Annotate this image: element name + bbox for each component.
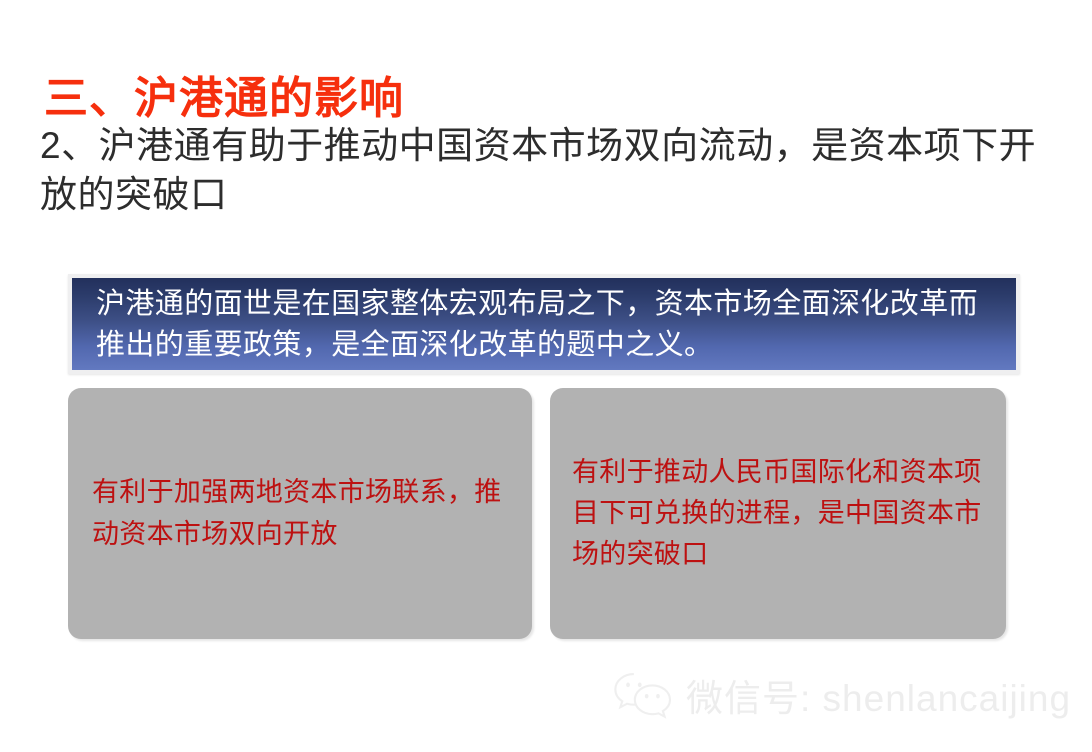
highlight-banner: 沪港通的面世是在国家整体宏观布局之下，资本市场全面深化改革而推出的重要政策，是全… <box>68 274 1020 374</box>
benefit-box-left-text: 有利于加强两地资本市场联系，推动资本市场双向开放 <box>92 472 512 554</box>
wechat-icon <box>612 671 674 719</box>
watermark: 微信号: shenlancaijing <box>612 668 1071 722</box>
highlight-banner-fill: 沪港通的面世是在国家整体宏观布局之下，资本市场全面深化改革而推出的重要政策，是全… <box>72 278 1016 370</box>
watermark-text: 微信号: shenlancaijing <box>686 668 1071 722</box>
benefit-box-left: 有利于加强两地资本市场联系，推动资本市场双向开放 <box>68 388 532 639</box>
highlight-banner-text: 沪港通的面世是在国家整体宏观布局之下，资本市场全面深化改革而推出的重要政策，是全… <box>96 283 994 365</box>
benefit-box-right-text: 有利于推动人民币国际化和资本项目下可兑换的进程，是中国资本市场的突破口 <box>572 452 990 575</box>
benefit-box-group: 有利于加强两地资本市场联系，推动资本市场双向开放 有利于推动人民币国际化和资本项… <box>68 388 1006 639</box>
benefit-box-right: 有利于推动人民币国际化和资本项目下可兑换的进程，是中国资本市场的突破口 <box>550 388 1006 639</box>
slide-subtitle: 2、沪港通有助于推动中国资本市场双向流动，是资本项下开放的突破口 <box>40 122 1050 220</box>
slide-canvas: 三、沪港通的影响 2、沪港通有助于推动中国资本市场双向流动，是资本项下开放的突破… <box>0 0 1092 752</box>
page-title: 三、沪港通的影响 <box>44 76 404 122</box>
